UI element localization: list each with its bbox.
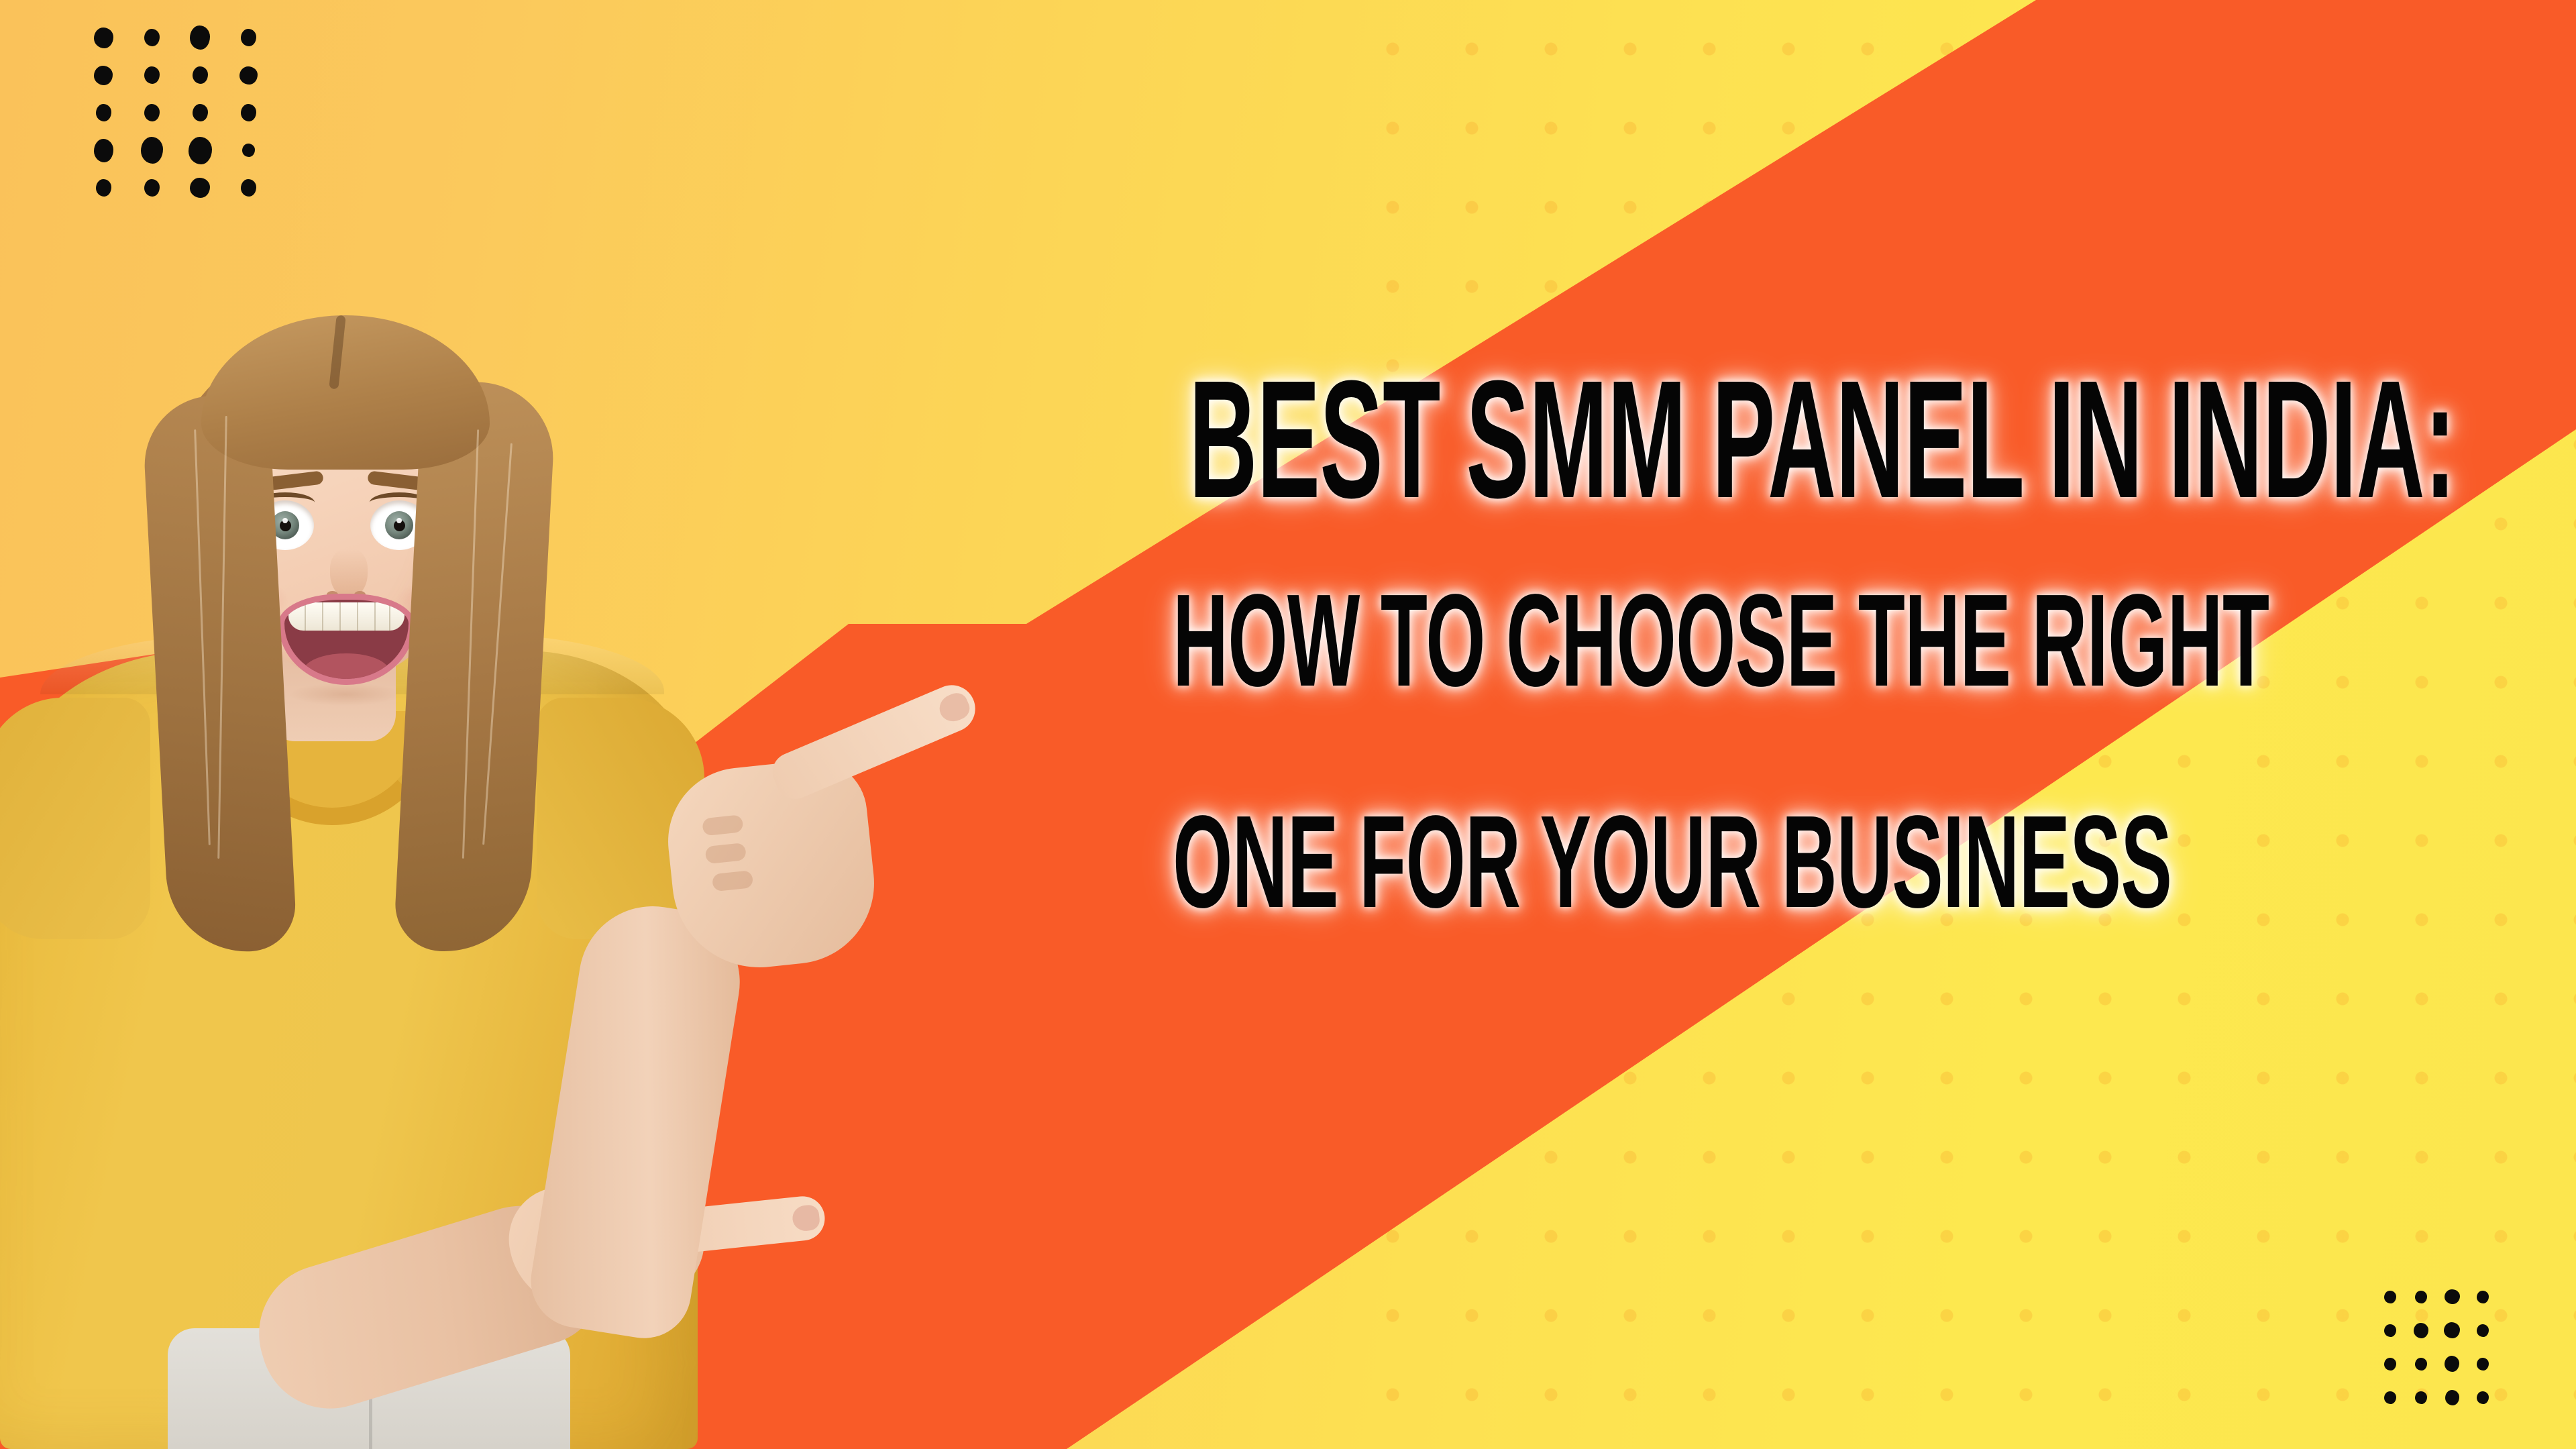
chin-shadow [288, 683, 402, 706]
headline-line-1: BEST SMM PANEL IN INDIA: [1189, 349, 2106, 530]
headline-line-2: HOW TO CHOOSE THE RIGHT [1173, 530, 2123, 751]
dot [241, 29, 256, 46]
dot-grid-bottom-right [2375, 1280, 2498, 1414]
dot [141, 137, 163, 164]
dot [94, 66, 113, 85]
dot [2384, 1358, 2396, 1371]
dot [94, 139, 113, 162]
dot [2477, 1391, 2489, 1404]
dot [2477, 1358, 2489, 1371]
nostril-right [354, 591, 366, 598]
headline-line-3: ONE FOR YOUR BUSINESS [1173, 751, 2123, 973]
dot [144, 29, 160, 46]
dot [239, 66, 258, 85]
dot [2414, 1323, 2428, 1338]
dot [2415, 1391, 2427, 1404]
eye-glint-right [396, 518, 402, 523]
dot [193, 104, 208, 121]
hair-top [201, 315, 490, 470]
sleeve-left [0, 698, 150, 939]
dot [2384, 1291, 2396, 1303]
dot-grid-top-left [79, 19, 272, 207]
dot [2445, 1390, 2459, 1405]
headline-block: BEST SMM PANEL IN INDIA: HOW TO CHOOSE T… [836, 349, 2459, 973]
dot [2384, 1324, 2396, 1337]
dot [2415, 1358, 2427, 1371]
dot [242, 144, 255, 157]
dot [144, 104, 160, 121]
dot [2477, 1291, 2489, 1303]
tongue [303, 653, 389, 679]
dot [2445, 1356, 2459, 1372]
eye-glint-left [282, 518, 288, 523]
model-photo [0, 181, 792, 1449]
dot [193, 66, 208, 84]
dot [189, 137, 212, 164]
dot [144, 66, 160, 84]
dot [2384, 1391, 2396, 1404]
dot [2444, 1322, 2460, 1338]
dot [241, 104, 256, 121]
dot [2445, 1289, 2460, 1304]
teeth [288, 602, 405, 631]
dot [96, 104, 111, 121]
dot [190, 25, 210, 50]
dot [94, 28, 113, 48]
banner-canvas: BEST SMM PANEL IN INDIA: HOW TO CHOOSE T… [0, 0, 2576, 1449]
dot [2415, 1291, 2427, 1303]
dot [2477, 1324, 2489, 1337]
nostril-left [327, 591, 338, 598]
